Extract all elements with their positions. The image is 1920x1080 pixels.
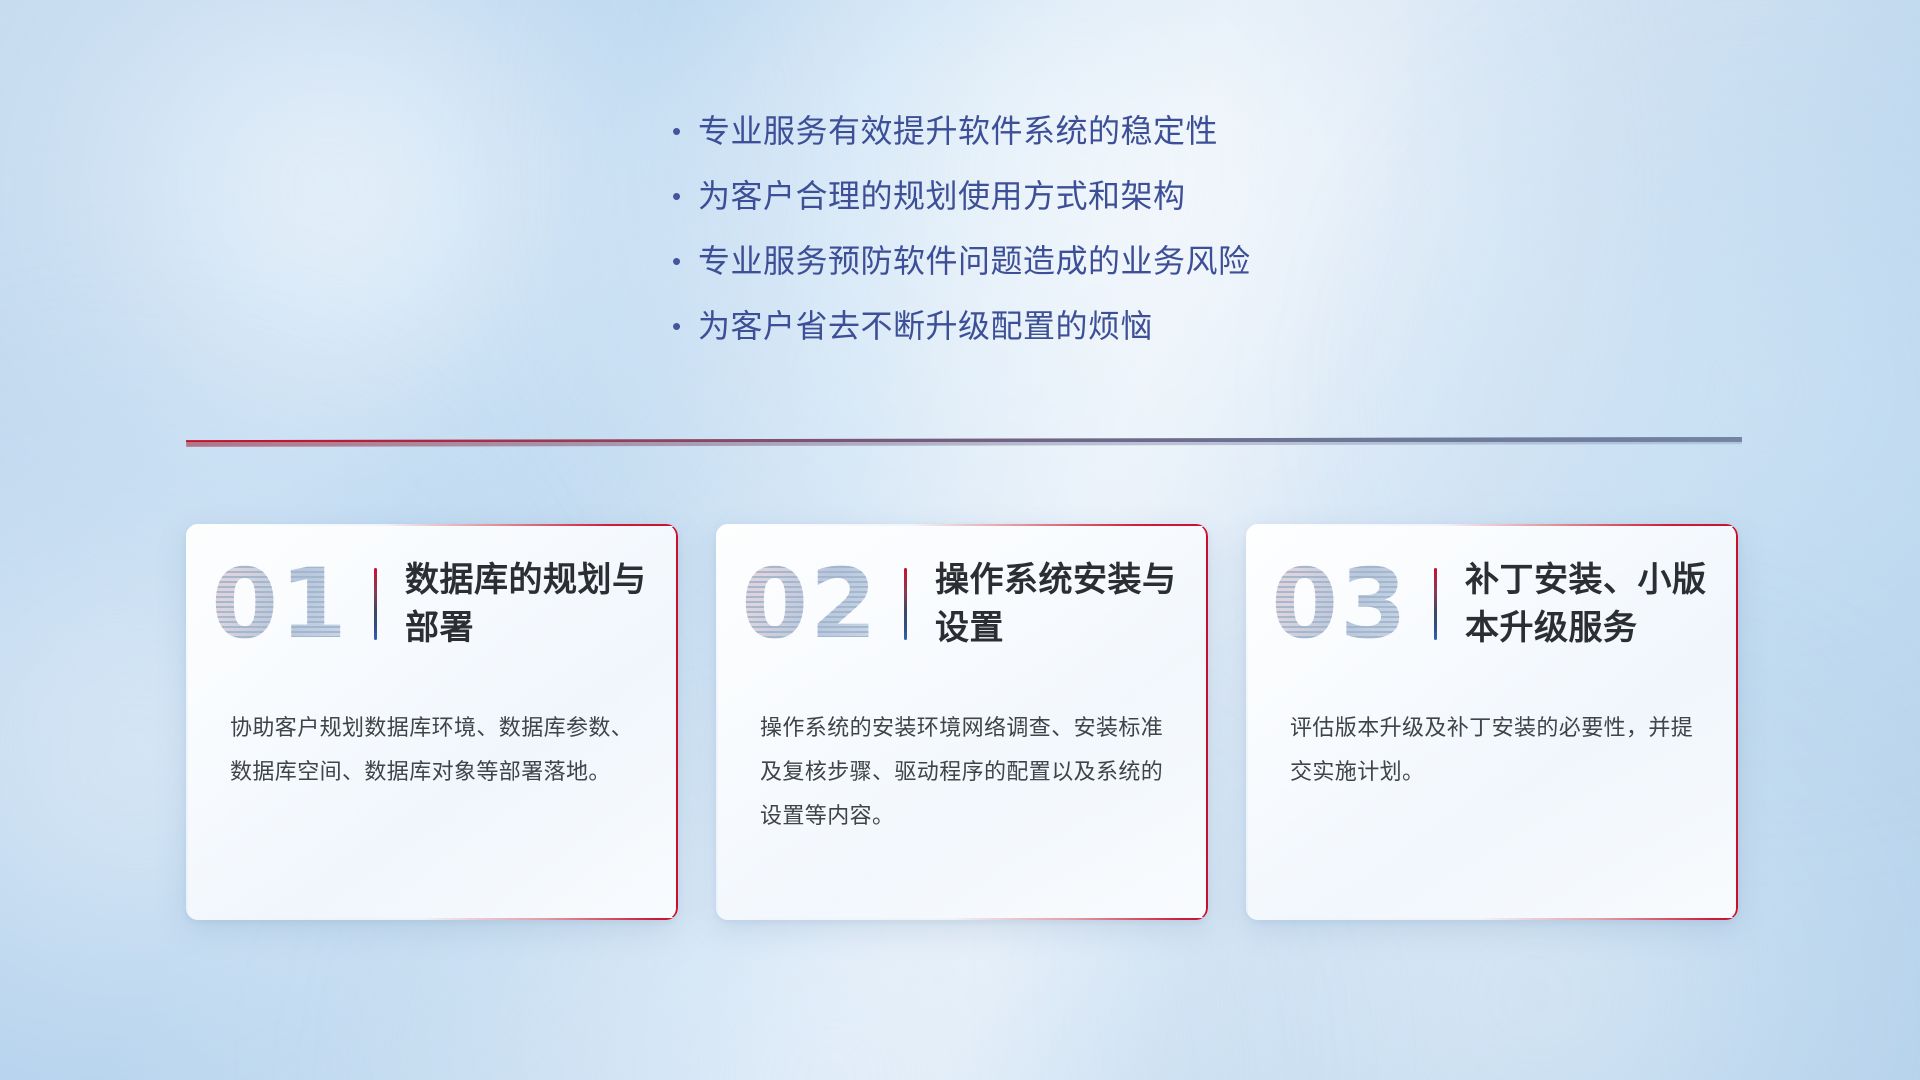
slide-content: • 专业服务有效提升软件系统的稳定性 • 为客户合理的规划使用方式和架构 • 专… [0, 0, 1920, 1080]
bullet-dot-icon: • [672, 108, 698, 154]
service-card-02[interactable]: 02 操作系统安装与设置 操作系统的安装环境网络调查、安装标准及复核步骤、驱动程… [716, 524, 1208, 920]
benefits-bullet-list: • 专业服务有效提升软件系统的稳定性 • 为客户合理的规划使用方式和架构 • 专… [672, 108, 1432, 368]
card-number-03: 03 [1246, 556, 1434, 652]
bullet-text: 为客户合理的规划使用方式和架构 [698, 173, 1186, 219]
section-divider [186, 437, 1742, 448]
bullet-item: • 专业服务有效提升软件系统的稳定性 [672, 108, 1432, 173]
service-card-01[interactable]: 01 数据库的规划与部署 协助客户规划数据库环境、数据库参数、数据库空间、数据库… [186, 524, 678, 920]
bullet-text: 专业服务预防软件问题造成的业务风险 [698, 238, 1251, 284]
bullet-dot-icon: • [672, 303, 698, 349]
bullet-dot-icon: • [672, 238, 698, 284]
card-title: 补丁安装、小版本升级服务 [1437, 556, 1738, 652]
card-header: 02 操作系统安装与设置 [716, 524, 1208, 684]
service-card-row: 01 数据库的规划与部署 协助客户规划数据库环境、数据库参数、数据库空间、数据库… [186, 524, 1738, 924]
card-bottom-accent-line [716, 918, 1208, 920]
card-description: 评估版本升级及补丁安装的必要性，并提交实施计划。 [1290, 706, 1702, 794]
card-title: 操作系统安装与设置 [907, 556, 1208, 652]
bullet-dot-icon: • [672, 173, 698, 219]
card-bottom-accent-line [186, 918, 678, 920]
bullet-item: • 专业服务预防软件问题造成的业务风险 [672, 238, 1432, 303]
service-card-03[interactable]: 03 补丁安装、小版本升级服务 评估版本升级及补丁安装的必要性，并提交实施计划。 [1246, 524, 1738, 920]
card-header: 01 数据库的规划与部署 [186, 524, 678, 684]
card-bottom-accent-line [1246, 918, 1738, 920]
card-header: 03 补丁安装、小版本升级服务 [1246, 524, 1738, 684]
bullet-item: • 为客户合理的规划使用方式和架构 [672, 173, 1432, 238]
card-number-01: 01 [186, 556, 374, 652]
card-description: 操作系统的安装环境网络调查、安装标准及复核步骤、驱动程序的配置以及系统的设置等内… [760, 706, 1172, 838]
bullet-text: 为客户省去不断升级配置的烦恼 [698, 303, 1153, 349]
bullet-item: • 为客户省去不断升级配置的烦恼 [672, 303, 1432, 368]
bullet-text: 专业服务有效提升软件系统的稳定性 [698, 108, 1218, 154]
card-number-02: 02 [716, 556, 904, 652]
divider-lower-edge [186, 441, 1742, 447]
card-description: 协助客户规划数据库环境、数据库参数、数据库空间、数据库对象等部署落地。 [230, 706, 642, 794]
card-title: 数据库的规划与部署 [377, 556, 678, 652]
